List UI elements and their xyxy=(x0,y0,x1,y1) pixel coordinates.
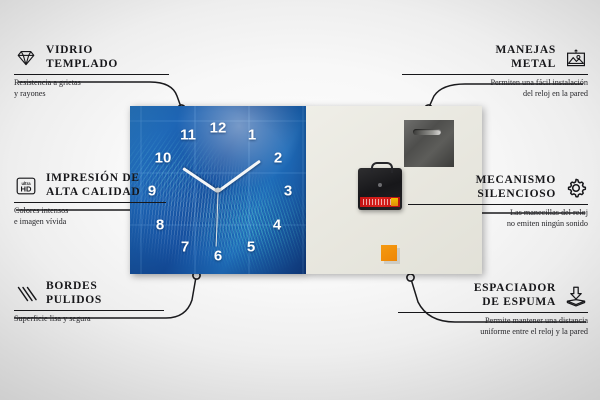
foam-spacer xyxy=(381,245,397,261)
movement-label xyxy=(360,197,400,207)
callout-tempered-glass-head: VIDRIO TEMPLADO xyxy=(14,44,174,71)
callout-polished-edges-rule xyxy=(14,310,164,311)
svg-text:HD: HD xyxy=(21,184,32,193)
callout-polished-edges: BORDES PULIDOS Superficie lisa y segura xyxy=(14,280,174,325)
callout-silent-mechanism-head: MECANISMO SILENCIOSO xyxy=(408,174,588,201)
callout-polished-edges-head: BORDES PULIDOS xyxy=(14,280,174,307)
clock-numeral-11: 11 xyxy=(180,128,196,143)
clock-numeral-2: 2 xyxy=(274,151,282,166)
callout-hd-print-head: ultra HD IMPRESIÓN DE ALTA CALIDAD xyxy=(14,172,174,199)
callout-tempered-glass-desc: Resistencia a grietas y rayones xyxy=(14,78,174,99)
movement-label-mark xyxy=(391,198,398,206)
callout-polished-edges-title: BORDES PULIDOS xyxy=(46,280,102,307)
callout-foam-spacer-head: ESPACIADOR DE ESPUMA xyxy=(398,282,588,309)
gear-icon xyxy=(564,176,588,200)
callout-hd-print-desc: Colores intensos e imagen vívida xyxy=(14,206,174,227)
callout-tempered-glass-rule xyxy=(14,74,169,75)
callout-metal-handles: MANEJAS METAL Permiten una fácil instala… xyxy=(402,44,588,99)
callout-silent-mechanism: MECANISMO SILENCIOSO Las manecillas del … xyxy=(408,174,588,229)
clock-numeral-4: 4 xyxy=(273,218,281,233)
callout-silent-mechanism-title: MECANISMO SILENCIOSO xyxy=(476,174,556,201)
clock-numeral-10: 10 xyxy=(155,151,172,166)
callout-foam-spacer-desc: Permite mantener una distancia uniforme … xyxy=(398,316,588,337)
callout-foam-spacer-rule xyxy=(398,312,588,313)
clock-numeral-1: 1 xyxy=(248,128,256,143)
picture-hanger-icon xyxy=(564,46,588,70)
hanger-keyhole-slot xyxy=(413,129,441,135)
connector-dot-foam-spacer xyxy=(407,274,414,281)
clock-numeral-12: 12 xyxy=(210,121,227,136)
ultra-hd-icon: ultra HD xyxy=(14,174,38,198)
callout-foam-spacer: ESPACIADOR DE ESPUMA Permite mantener un… xyxy=(398,282,588,337)
clock-numeral-6: 6 xyxy=(214,249,222,264)
clock-center-hub xyxy=(216,188,221,193)
press-down-icon xyxy=(564,284,588,308)
callout-foam-spacer-title: ESPACIADOR DE ESPUMA xyxy=(474,282,556,309)
clock-numeral-7: 7 xyxy=(181,240,189,255)
movement-label-text xyxy=(363,199,391,205)
callout-hd-print-title: IMPRESIÓN DE ALTA CALIDAD xyxy=(46,172,140,199)
clock-movement xyxy=(358,168,402,210)
callout-hd-print: ultra HD IMPRESIÓN DE ALTA CALIDAD Color… xyxy=(14,172,174,227)
callout-silent-mechanism-rule xyxy=(408,204,588,205)
callout-metal-handles-title: MANEJAS METAL xyxy=(496,44,557,71)
polished-edges-icon xyxy=(14,282,38,306)
movement-shaft xyxy=(378,183,382,187)
clock-numeral-5: 5 xyxy=(247,240,255,255)
callout-tempered-glass-title: VIDRIO TEMPLADO xyxy=(46,44,118,71)
diamond-icon xyxy=(14,46,38,70)
callout-tempered-glass: VIDRIO TEMPLADO Resistencia a grietas y … xyxy=(14,44,174,99)
callout-polished-edges-desc: Superficie lisa y segura xyxy=(14,314,174,325)
callout-metal-handles-head: MANEJAS METAL xyxy=(402,44,588,71)
callout-metal-handles-desc: Permiten una fácil instalación del reloj… xyxy=(402,78,588,99)
movement-hanger-loop xyxy=(371,162,393,173)
infographic-canvas: 12 1 2 3 4 5 6 7 8 9 10 11 xyxy=(0,0,600,400)
metal-hanger-plate xyxy=(404,120,454,167)
callout-metal-handles-rule xyxy=(402,74,588,75)
clock-numeral-3: 3 xyxy=(284,184,292,199)
callout-silent-mechanism-desc: Las manecillas del reloj no emiten ningú… xyxy=(408,208,588,229)
callout-hd-print-rule xyxy=(14,202,166,203)
